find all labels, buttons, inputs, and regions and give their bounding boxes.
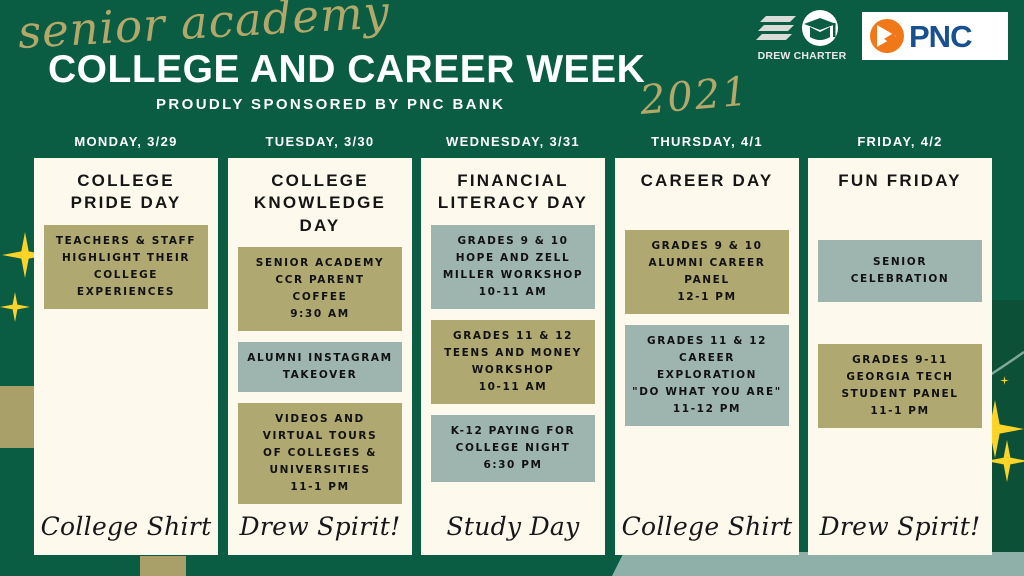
event-item[interactable]: VIDEOS AND VIRTUAL TOURS OF COLLEGES & U… xyxy=(238,403,402,504)
day-header: TUESDAY, 3/30 xyxy=(228,134,412,158)
event-item[interactable]: GRADES 9-11 GEORGIA TECH STUDENT PANEL 1… xyxy=(818,344,982,428)
poster-canvas: senior academy COLLEGE AND CAREER WEEK P… xyxy=(0,0,1024,576)
day-header: WEDNESDAY, 3/31 xyxy=(421,134,605,158)
event-item[interactable]: SENIOR ACADEMY CCR PARENT COFFEE 9:30 AM xyxy=(238,247,402,331)
day-column-tuesday: TUESDAY, 3/30 COLLEGE KNOWLEDGE DAY SENI… xyxy=(228,134,412,555)
event-list: SENIOR CELEBRATION GRADES 9-11 GEORGIA T… xyxy=(818,240,982,439)
event-item[interactable]: K-12 PAYING FOR COLLEGE NIGHT 6:30 PM xyxy=(431,415,595,482)
pnc-wordmark: PNC xyxy=(909,21,971,52)
event-list: TEACHERS & STAFF HIGHLIGHT THEIR COLLEGE… xyxy=(44,225,208,320)
day-header: FRIDAY, 4/2 xyxy=(808,134,992,158)
drew-charter-wordmark: DREW CHARTER xyxy=(752,50,852,62)
event-item[interactable]: SENIOR CELEBRATION xyxy=(818,240,982,302)
day-column-wednesday: WEDNESDAY, 3/31 FINANCIAL LITERACY DAY G… xyxy=(421,134,605,555)
page-title: COLLEGE AND CAREER WEEK xyxy=(48,48,645,92)
event-item[interactable]: ALUMNI INSTAGRAM TAKEOVER xyxy=(238,342,402,392)
decor-sage-band-bottom xyxy=(612,552,1024,576)
day-title: COLLEGE KNOWLEDGE DAY xyxy=(238,170,402,237)
day-footer-note: Study Day xyxy=(421,512,605,541)
sponsor-line: PROUDLY SPONSORED BY PNC BANK xyxy=(156,96,505,113)
day-column-friday: FRIDAY, 4/2 FUN FRIDAY SENIOR CELEBRATIO… xyxy=(808,134,992,555)
event-list: SENIOR ACADEMY CCR PARENT COFFEE 9:30 AM… xyxy=(238,247,402,515)
day-title: FINANCIAL LITERACY DAY xyxy=(431,170,595,215)
event-item[interactable]: GRADES 11 & 12 CAREER EXPLORATION "DO WH… xyxy=(625,325,789,426)
pnc-logo: PNC xyxy=(862,12,1008,60)
drew-charter-mark-icon xyxy=(752,10,852,50)
day-header: THURSDAY, 4/1 xyxy=(615,134,799,158)
event-item[interactable]: GRADES 9 & 10 HOPE AND ZELL MILLER WORKS… xyxy=(431,225,595,309)
decor-olive-block-bottom xyxy=(140,556,186,576)
event-list: GRADES 9 & 10 ALUMNI CAREER PANEL 12-1 P… xyxy=(625,230,789,437)
day-card: COLLEGE PRIDE DAY TEACHERS & STAFF HIGHL… xyxy=(34,158,218,555)
day-footer-note: Drew Spirit! xyxy=(808,512,992,541)
decor-olive-block-left xyxy=(0,386,34,448)
pnc-mark-icon xyxy=(870,19,904,53)
day-card: FUN FRIDAY SENIOR CELEBRATION GRADES 9-1… xyxy=(808,158,992,555)
day-card: CAREER DAY GRADES 9 & 10 ALUMNI CAREER P… xyxy=(615,158,799,555)
day-column-thursday: THURSDAY, 4/1 CAREER DAY GRADES 9 & 10 A… xyxy=(615,134,799,555)
day-card: COLLEGE KNOWLEDGE DAY SENIOR ACADEMY CCR… xyxy=(228,158,412,555)
day-footer-note: College Shirt xyxy=(34,512,218,541)
day-footer-note: College Shirt xyxy=(615,512,799,541)
day-footer-note: Drew Spirit! xyxy=(228,512,412,541)
event-list: GRADES 9 & 10 HOPE AND ZELL MILLER WORKS… xyxy=(431,225,595,493)
event-item[interactable]: GRADES 9 & 10 ALUMNI CAREER PANEL 12-1 P… xyxy=(625,230,789,314)
year-script: 2021 xyxy=(638,69,751,124)
sparkle-icon xyxy=(0,292,30,322)
event-item[interactable]: TEACHERS & STAFF HIGHLIGHT THEIR COLLEGE… xyxy=(44,225,208,309)
drew-charter-logo: DREW CHARTER xyxy=(752,10,852,62)
poster-header: senior academy COLLEGE AND CAREER WEEK P… xyxy=(0,0,1024,130)
event-item[interactable]: GRADES 11 & 12 TEENS AND MONEY WORKSHOP … xyxy=(431,320,595,404)
day-title: COLLEGE PRIDE DAY xyxy=(44,170,208,215)
day-column-monday: MONDAY, 3/29 COLLEGE PRIDE DAY TEACHERS … xyxy=(34,134,218,555)
day-card: FINANCIAL LITERACY DAY GRADES 9 & 10 HOP… xyxy=(421,158,605,555)
day-title: FUN FRIDAY xyxy=(818,170,982,192)
day-header: MONDAY, 3/29 xyxy=(34,134,218,158)
day-title: CAREER DAY xyxy=(625,170,789,192)
